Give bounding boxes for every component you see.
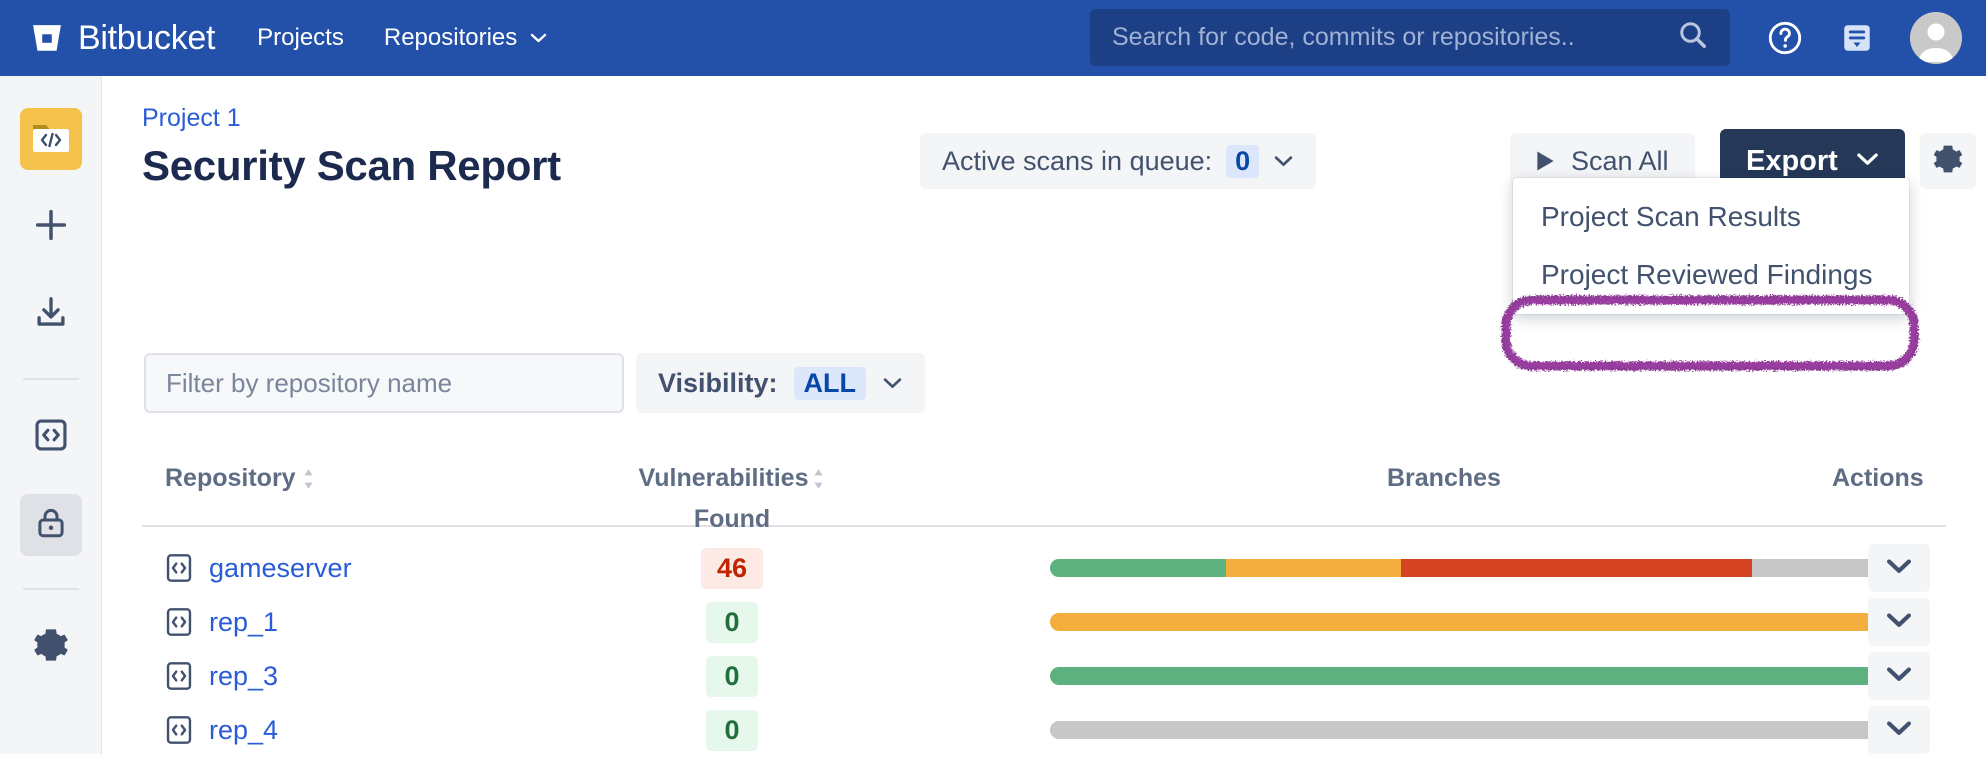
search-icon[interactable]: [1678, 20, 1708, 55]
branch-segment: [1050, 721, 1928, 739]
bitbucket-logo-icon: [30, 21, 64, 55]
help-icon[interactable]: [1766, 19, 1804, 57]
chevron-down-icon: [530, 33, 547, 43]
branch-segment: [1401, 559, 1752, 577]
sidebar-divider-1: [23, 378, 79, 380]
sidebar-item-import[interactable]: [20, 284, 82, 346]
sidebar-item-settings[interactable]: [20, 616, 82, 678]
nav-right-actions: [1766, 0, 1962, 76]
code-icon: [165, 661, 193, 691]
export-dropdown-menu: Project Scan Results Project Reviewed Fi…: [1513, 178, 1909, 314]
export-label: Export: [1746, 145, 1838, 178]
chevron-down-icon: [882, 377, 903, 389]
column-header-vulnerabilities-label: Vulnerabilities: [639, 464, 809, 493]
repository-link[interactable]: rep_4: [209, 715, 278, 746]
row-expand-button[interactable]: [1868, 598, 1930, 646]
branch-status-bar: [1050, 613, 1928, 631]
vulnerability-count-badge: 0: [706, 710, 758, 751]
scan-settings-button[interactable]: [1920, 133, 1976, 189]
sidebar-item-security[interactable]: [20, 494, 82, 556]
sidebar-item-project[interactable]: [20, 108, 82, 170]
vulnerability-count-badge: 0: [706, 602, 758, 643]
table-header: Repository Vulnerabilities Found Branche…: [142, 454, 1946, 527]
menu-item-project-scan-results[interactable]: Project Scan Results: [1513, 188, 1909, 246]
primary-nav-links: Projects Repositories: [257, 24, 547, 52]
nav-link-repositories-label: Repositories: [384, 24, 517, 52]
sidebar-item-repositories[interactable]: [20, 406, 82, 468]
visibility-label: Visibility:: [658, 368, 778, 399]
repository-filter-input[interactable]: [144, 353, 624, 413]
main-content: Project 1 Security Scan Report Active sc…: [102, 76, 1986, 754]
branch-segment: [1050, 559, 1226, 577]
play-icon: [1536, 150, 1555, 172]
chevron-down-icon: [1886, 666, 1912, 687]
repository-link[interactable]: rep_3: [209, 661, 278, 692]
column-header-repository-label: Repository: [165, 464, 296, 493]
nav-link-projects-label: Projects: [257, 24, 344, 52]
code-icon: [165, 607, 193, 637]
top-navigation-bar: Bitbucket Projects Repositories: [0, 0, 1986, 76]
code-icon: [32, 416, 70, 459]
bitbucket-home-link[interactable]: Bitbucket: [30, 21, 215, 55]
chevron-down-icon: [1856, 152, 1879, 171]
row-expand-button[interactable]: [1868, 706, 1930, 754]
visibility-dropdown[interactable]: Visibility: ALL: [636, 353, 925, 413]
column-header-branches: Branches: [1387, 464, 1501, 493]
import-icon: [32, 294, 70, 337]
scan-all-label: Scan All: [1571, 146, 1669, 177]
brand-name: Bitbucket: [78, 21, 215, 55]
search-input[interactable]: [1112, 23, 1678, 52]
column-header-repository[interactable]: Repository: [165, 464, 315, 493]
chevron-down-icon: [1886, 558, 1912, 579]
column-header-actions-label: Actions: [1832, 464, 1924, 493]
chevron-down-icon: [1886, 612, 1912, 633]
page-title: Security Scan Report: [142, 142, 561, 190]
vulnerability-count-badge: 46: [701, 548, 763, 589]
branch-status-bar: [1050, 667, 1928, 685]
branch-status-bar: [1050, 721, 1928, 739]
branch-segment: [1050, 667, 1928, 685]
nav-link-repositories[interactable]: Repositories: [384, 24, 547, 52]
column-header-branches-label: Branches: [1387, 464, 1501, 493]
notifications-icon[interactable]: [1838, 19, 1876, 57]
code-icon: [165, 553, 193, 583]
active-scans-queue-dropdown[interactable]: Active scans in queue: 0: [920, 133, 1316, 189]
gear-icon: [31, 625, 71, 670]
left-sidebar: [0, 76, 102, 754]
repository-link[interactable]: rep_1: [209, 607, 278, 638]
column-header-vulnerabilities-label2: Found: [632, 505, 832, 534]
sort-icon[interactable]: [812, 464, 825, 490]
vulnerability-count-badge: 0: [706, 656, 758, 697]
row-expand-button[interactable]: [1868, 652, 1930, 700]
gear-icon: [1931, 142, 1965, 181]
column-header-actions: Actions: [1832, 464, 1924, 493]
sidebar-item-create[interactable]: [20, 196, 82, 258]
sidebar-divider-2: [23, 588, 79, 590]
code-icon: [165, 715, 193, 745]
avatar[interactable]: [1910, 12, 1962, 64]
active-scans-label: Active scans in queue:: [942, 146, 1212, 177]
branch-segment: [1050, 613, 1928, 631]
breadcrumb[interactable]: Project 1: [142, 104, 241, 133]
global-search[interactable]: [1090, 9, 1730, 66]
active-scans-count: 0: [1226, 145, 1259, 178]
visibility-value: ALL: [794, 367, 866, 400]
chevron-down-icon: [1886, 720, 1912, 741]
project-folder-icon: [30, 118, 72, 161]
lock-icon: [33, 505, 69, 546]
branch-segment: [1226, 559, 1402, 577]
branch-status-bar: [1050, 559, 1928, 577]
menu-item-project-reviewed-findings[interactable]: Project Reviewed Findings: [1513, 246, 1909, 304]
nav-link-projects[interactable]: Projects: [257, 24, 344, 52]
row-expand-button[interactable]: [1868, 544, 1930, 592]
chevron-down-icon: [1273, 155, 1294, 167]
sort-icon[interactable]: [302, 464, 315, 490]
add-icon: [31, 205, 71, 250]
column-header-vulnerabilities[interactable]: Vulnerabilities Found: [632, 464, 832, 534]
repository-link[interactable]: gameserver: [209, 553, 352, 584]
